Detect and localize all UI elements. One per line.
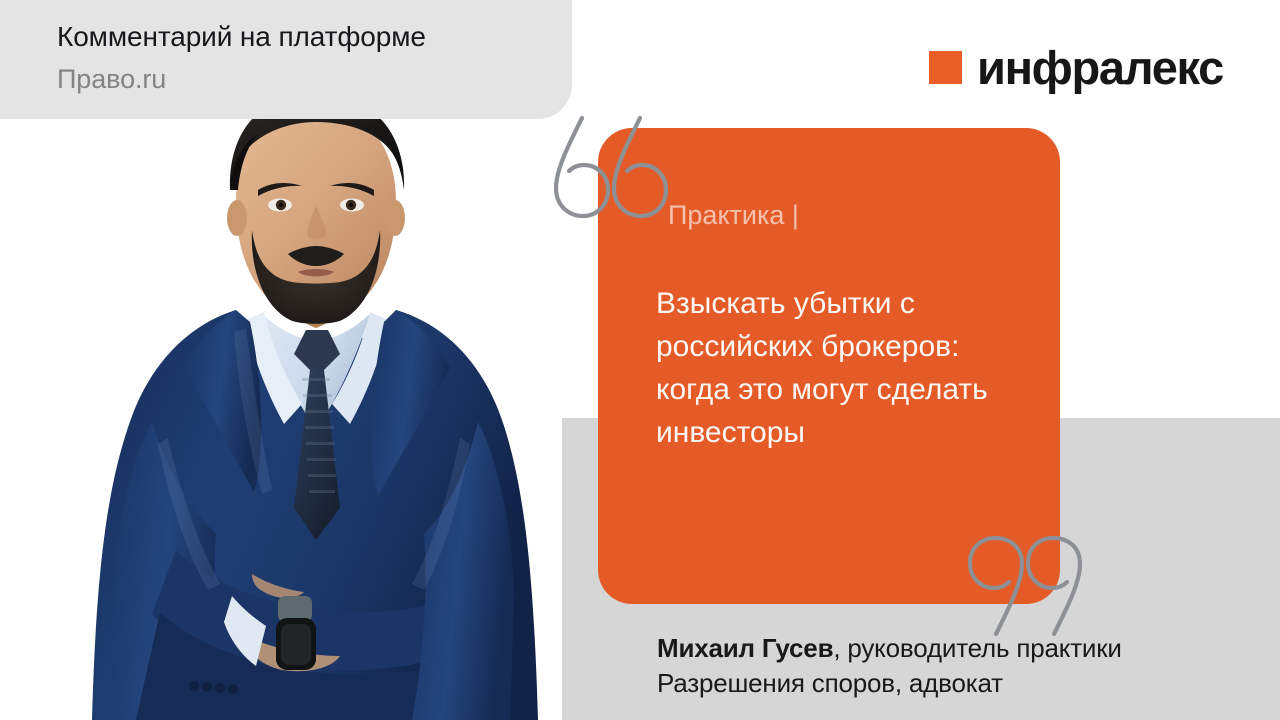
open-quote-icon	[548, 112, 672, 220]
header-badge: Комментарий на платформе Право.ru	[0, 0, 572, 119]
close-quote-icon	[968, 536, 1086, 640]
brand-wordmark: инфралекс	[977, 44, 1223, 91]
orange-square-icon	[929, 51, 962, 84]
card-kicker: Практика |	[668, 200, 799, 231]
brand-logo: инфралекс	[929, 44, 1223, 91]
speaker-name: Михаил Гусев	[657, 633, 833, 663]
header-title: Комментарий на платформе	[57, 21, 426, 53]
speaker-portrait	[40, 78, 580, 720]
header-subtitle: Право.ru	[57, 64, 166, 95]
attribution: Михаил Гусев, руководитель практики Разр…	[657, 631, 1257, 701]
card-headline: Взыскать убытки с российских брокеров: к…	[656, 283, 1036, 455]
slide-canvas: Практика | Взыскать убытки с российских …	[0, 0, 1280, 720]
